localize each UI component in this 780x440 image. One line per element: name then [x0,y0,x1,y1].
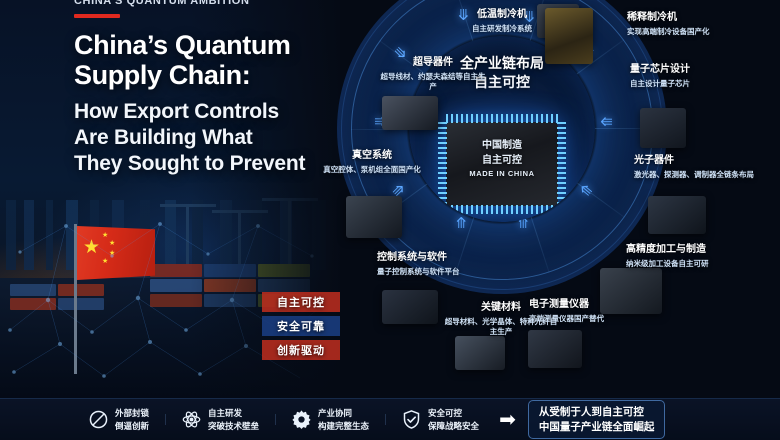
accent-divider [74,14,120,18]
segment-vacuum-systems[interactable]: 真空系统 真空腔体、泵机组全面国产化 [318,150,426,175]
page-subtitle-line-1: How Export Controls [74,99,364,125]
flag-star-small: ★ [102,258,108,265]
chip-pins-right [557,122,566,206]
flag-star-large: ★ [83,238,100,257]
footer-arrow-icon: ➡ [499,407,516,432]
tile-quantum-chip-photo [640,108,686,148]
tile-key-materials-photo [455,336,505,370]
segment-title: 光子器件 [634,155,754,168]
container-banner-2: 创新驱动 [262,340,340,360]
flag-star-small: ★ [102,232,108,239]
segment-desc: 自主研发制冷系统 [436,24,568,35]
footer-conclusion-line-1: 从受制于人到自主可控 [539,405,655,420]
page-title-line-2: Supply Chain: [74,61,364,91]
chip-label-english: MADE IN CHINA [446,169,558,180]
container-banner-label: 创新驱动 [277,342,325,358]
footer-item-text: 自主研发 突破技术壁垒 [208,407,259,432]
footer-conclusion: 从受制于人到自主可控 中国量子产业链全面崛起 [528,400,666,440]
footer-item-industrial-synergy[interactable]: 产业协同 构建完整生态 [275,407,385,432]
flag-star-small: ★ [109,240,115,247]
page-title: China’s Quantum Supply Chain: [74,31,364,90]
footer-item-line-1: 自主研发 [208,407,259,419]
chip-label: 中国制造 自主可控 MADE IN CHINA [446,139,558,180]
segment-desc: 真空腔体、泵机组全面国产化 [318,165,426,176]
footer-item-line-1: 产业协同 [318,407,369,419]
segment-key-materials[interactable]: 关键材料 超导材料、光学晶体、特种光纤自主生产 [444,302,558,338]
china-flag: ★ ★ ★ ★ ★ [77,226,155,280]
container-unit [10,284,56,296]
segment-title: 真空系统 [318,150,426,163]
segment-desc: 实现高端制冷设备国产化 [627,27,743,38]
footer-item-external-blockade[interactable]: 外部封锁 倒逼创新 [88,407,165,432]
segment-title: 控制系统与软件 [377,252,489,265]
page-subtitle-line-2: Are Building What [74,125,364,151]
footer-item-independent-rd[interactable]: 自主研发 突破技术壁垒 [165,407,275,432]
footer-item-text: 产业协同 构建完整生态 [318,407,369,432]
shield-check-icon [401,409,422,430]
footer-item-text: 安全可控 保障战略安全 [428,407,479,432]
segment-title: 低温制冷机 [436,9,568,22]
footer-item-line-2: 倒逼创新 [115,420,149,432]
container-banner-label: 安全可靠 [277,318,325,334]
segment-desc: 超导线材、约瑟夫森结等自主生产 [380,72,486,94]
tile-control-systems-photo [382,290,438,324]
atom-icon [181,409,202,430]
segment-title: 稀释制冷机 [627,12,743,25]
chip-label-line-2: 自主可控 [446,154,558,169]
segment-superconducting-devices[interactable]: 超导器件 超导线材、约瑟夫森结等自主生产 [380,57,486,93]
segment-title: 量子芯片设计 [630,64,746,77]
segment-photonic-devices[interactable]: 光子器件 激光器、探测器、调制器全链条布局 [634,155,754,180]
segment-precision-machining[interactable]: 高精度加工与制造 纳米级加工设备自主可研 [626,244,744,269]
supply-chain-wheel: ⤋ ⤋ ⤋ ⤋ ⤋ ⤋ ⤋ ⤋ ⤋ ⤋ 全产业链布局 自主可控 中国制造 自主可… [337,0,667,294]
gear-icon [291,409,312,430]
segment-dilution-refrigerator[interactable]: 稀释制冷机 实现高端制冷设备国产化 [627,12,743,37]
footer-item-line-2: 突破技术壁垒 [208,420,259,432]
segment-cryocooler[interactable]: 低温制冷机 自主研发制冷系统 [436,9,568,34]
footer-item-line-2: 构建完整生态 [318,420,369,432]
segment-desc: 量子控制系统与软件平台 [377,267,489,278]
container-banner-0: 自主可控 [262,292,340,312]
tile-vacuum-systems-photo [346,196,402,238]
kicker-text: CHINA'S QUANTUM AMBITION [74,0,364,7]
container-banner-1: 安全可靠 [262,316,340,336]
tile-photonic-devices-photo [648,196,706,234]
segment-control-systems[interactable]: 控制系统与软件 量子控制系统与软件平台 [377,252,489,277]
made-in-china-chip: 中国制造 自主可控 MADE IN CHINA [446,122,558,206]
footer-item-line-1: 外部封锁 [115,407,149,419]
footer-bar: 外部封锁 倒逼创新 自主研发 突破技术壁垒 产业协同 构 [0,398,780,440]
page-title-line-1: China’s Quantum [74,31,364,61]
segment-desc: 超导材料、光学晶体、特种光纤自主生产 [444,317,558,339]
container-unit [58,284,104,296]
segment-desc: 纳米级加工设备自主可研 [626,259,744,270]
chip-label-line-1: 中国制造 [446,139,558,154]
port-crane [186,204,189,264]
inward-arrow-icon: ⤋ [598,115,613,128]
chip-pins-top [446,114,558,123]
segment-title: 超导器件 [380,57,486,70]
segment-title: 关键材料 [444,302,558,315]
infographic-canvas: ★ ★ ★ ★ ★ 自主可控 安全可靠 创新驱动 [0,0,780,440]
segment-desc: 激光器、探测器、调制器全链条布局 [634,170,754,181]
footer-conclusion-line-2: 中国量子产业链全面崛起 [539,420,655,435]
container-unit [10,298,56,310]
container-banner-label: 自主可控 [277,294,325,310]
footer-item-secure-controllable[interactable]: 安全可控 保障战略安全 [385,407,495,432]
segment-desc: 自主设计量子芯片 [630,79,746,90]
container-unit [58,298,104,310]
inward-arrow-icon: ⤋ [455,214,468,229]
segment-quantum-chip-design[interactable]: 量子芯片设计 自主设计量子芯片 [630,64,746,89]
footer-item-text: 外部封锁 倒逼创新 [115,407,149,432]
chip-pins-bottom [446,205,558,214]
flag-pole [74,224,77,374]
segment-title: 高精度加工与制造 [626,244,744,257]
no-entry-icon [88,409,109,430]
footer-item-line-2: 保障战略安全 [428,420,479,432]
footer-item-line-1: 安全可控 [428,407,479,419]
flag-star-small: ★ [109,250,115,257]
tile-superconducting-photo [382,96,438,130]
